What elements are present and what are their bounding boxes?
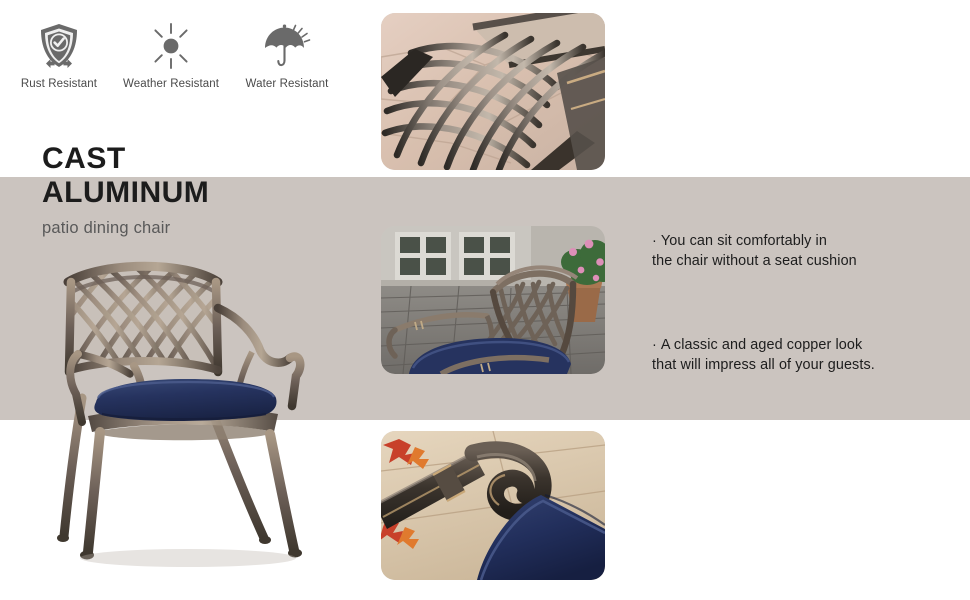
benefit-line-2: the chair without a seat cushion: [652, 253, 857, 269]
benefit-text-1: ·You can sit comfortably in the chair wi…: [652, 231, 952, 271]
umbrella-icon: [232, 20, 342, 72]
lattice-backrest-closeup-photo: [381, 13, 605, 170]
sun-icon: [112, 20, 230, 72]
feature-label: Weather Resistant: [112, 78, 230, 90]
bullet-glyph: ·: [652, 233, 657, 249]
benefit-line-1: A classic and aged copper look: [661, 337, 862, 353]
feature-label: Water Resistant: [232, 78, 342, 90]
benefit-text-2: ·A classic and aged copper look that wil…: [652, 335, 952, 375]
bullet-glyph: ·: [652, 337, 657, 353]
feature-water-resistant: Water Resistant: [232, 20, 342, 90]
chair-on-patio-photo: [381, 226, 605, 374]
feature-label: Rust Resistant: [8, 78, 110, 90]
benefit-line-2: that will impress all of your guests.: [652, 357, 875, 373]
feature-rust-resistant: Rust Resistant: [8, 20, 110, 90]
headline-block: CAST ALUMINUM patio dining chair: [42, 142, 372, 238]
feature-weather-resistant: Weather Resistant: [112, 20, 230, 90]
cast-aluminum-dining-chair-photo: [38, 246, 344, 576]
product-feature-graphic: Rust Resistant Weather Resistant: [0, 0, 970, 600]
shield-check-icon: [8, 20, 110, 72]
headline-line-1: CAST: [42, 142, 372, 176]
headline-subtitle: patio dining chair: [42, 219, 372, 238]
feature-icon-row: Rust Resistant Weather Resistant: [0, 20, 370, 110]
benefit-line-1: You can sit comfortably in: [661, 233, 827, 249]
headline-line-2: ALUMINUM: [42, 176, 372, 210]
armrest-scroll-detail-photo: [381, 431, 605, 580]
